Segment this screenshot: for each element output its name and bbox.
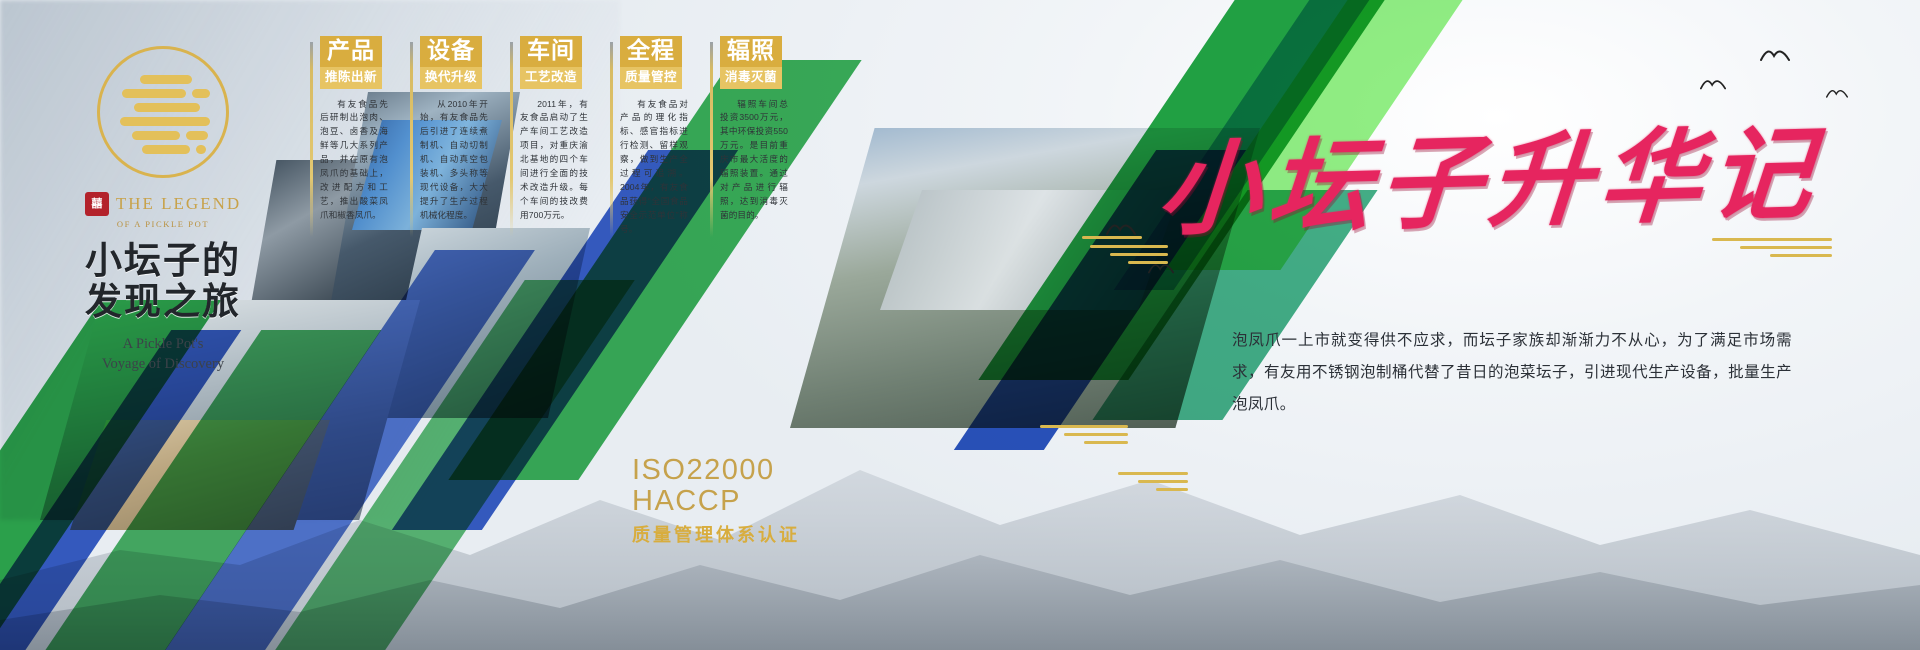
certification-line2: HACCP <box>632 486 800 517</box>
card-badge: 全程 质量管控 <box>620 36 682 89</box>
flying-bird-icon <box>1826 88 1848 100</box>
card-subheading: 推陈出新 <box>320 67 382 89</box>
flying-bird-icon <box>1106 222 1136 238</box>
card-subheading: 工艺改造 <box>520 67 582 89</box>
info-card-list: 产品 推陈出新 有友食品先后研制出泡肉、泡豆、卤香及海鲜等几大系列产品，并在原有… <box>310 36 788 237</box>
card-badge: 设备 换代升级 <box>420 36 482 89</box>
card-heading: 全程 <box>620 36 682 67</box>
gold-cloud-lines-icon <box>1118 472 1188 496</box>
card-badge: 产品 推陈出新 <box>320 36 382 89</box>
brand-title-en-line1: A Pickle Pot's <box>48 334 278 354</box>
card-rail <box>610 42 613 237</box>
flying-bird-icon <box>1148 262 1174 276</box>
card-heading: 车间 <box>520 36 582 67</box>
certification-block: ISO22000 HACCP 质量管理体系认证 <box>632 455 800 547</box>
brand-title-cn-line1: 小坛子的 <box>48 241 278 282</box>
card-rail <box>510 42 513 237</box>
info-card-quality: 全程 质量管控 有友食品对产品的理化指标、感官指标进行检测、留样观察，做到生产全… <box>610 36 688 237</box>
pickle-pot-emblem-icon <box>97 46 229 178</box>
card-subheading: 消毒灭菌 <box>720 67 782 89</box>
brand-title-en-line2: Voyage of Discovery <box>48 354 278 374</box>
card-subheading: 质量管控 <box>620 67 682 89</box>
info-card-workshop: 车间 工艺改造 2011年，有友食品启动了生产车间工艺改造项目，对重庆渝北基地的… <box>510 36 588 237</box>
card-rail <box>310 42 313 237</box>
brand-block: 囍 THE LEGEND OF A PICKLE POT 小坛子的 发现之旅 A… <box>48 46 278 374</box>
card-heading: 辐照 <box>720 36 782 67</box>
card-heading: 产品 <box>320 36 382 67</box>
card-rail <box>710 42 713 237</box>
gold-cloud-lines-icon <box>1040 425 1128 449</box>
card-body: 有友食品先后研制出泡肉、泡豆、卤香及海鲜等几大系列产品，并在原有泡凤爪的基础上，… <box>320 98 388 223</box>
brand-title-cn: 小坛子的 发现之旅 <box>48 241 278 324</box>
card-badge: 车间 工艺改造 <box>520 36 582 89</box>
flying-bird-icon <box>1760 48 1790 64</box>
card-body: 从2010年开始，有友食品先后引进了连续煮制机、自动切制机、自动真空包装机、多头… <box>420 98 488 223</box>
brand-title-en: A Pickle Pot's Voyage of Discovery <box>48 334 278 374</box>
card-badge: 辐照 消毒灭菌 <box>720 36 782 89</box>
info-card-product: 产品 推陈出新 有友食品先后研制出泡肉、泡豆、卤香及海鲜等几大系列产品，并在原有… <box>310 36 388 237</box>
card-rail <box>410 42 413 237</box>
card-body: 辐照车间总投资3500万元，其中环保投资550万元。是目前重庆市最大活度的辐照装… <box>720 98 788 223</box>
legend-sub-en-text: OF A PICKLE POT <box>48 219 278 229</box>
card-body: 有友食品对产品的理化指标、感官指标进行检测、留样观察，做到生产全过程可追溯。20… <box>620 98 688 237</box>
card-body: 2011年，有友食品启动了生产车间工艺改造项目，对重庆渝北基地的四个车间进行全面… <box>520 98 588 223</box>
card-subheading: 换代升级 <box>420 67 482 89</box>
info-card-irradiation: 辐照 消毒灭菌 辐照车间总投资3500万元，其中环保投资550万元。是目前重庆市… <box>710 36 788 237</box>
certification-line1: ISO22000 <box>632 455 800 486</box>
card-heading: 设备 <box>420 36 482 67</box>
poster-canvas: 囍 THE LEGEND OF A PICKLE POT 小坛子的 发现之旅 A… <box>0 0 1920 650</box>
legend-en-text: THE LEGEND <box>116 194 241 214</box>
info-card-equipment: 设备 换代升级 从2010年开始，有友食品先后引进了连续煮制机、自动切制机、自动… <box>410 36 488 237</box>
red-seal-icon: 囍 <box>85 192 109 216</box>
gold-cloud-lines-icon <box>1712 238 1832 262</box>
flying-bird-icon <box>1700 78 1726 92</box>
certification-line3: 质量管理体系认证 <box>632 521 800 547</box>
hero-paragraph: 泡凤爪一上市就变得供不应求，而坛子家族却渐渐力不从心，为了满足市场需求，有友用不… <box>1232 325 1792 420</box>
hero-title: 小坛子升华记 <box>1153 91 1826 255</box>
legend-wordmark: 囍 THE LEGEND <box>48 192 278 216</box>
brand-title-cn-line2: 发现之旅 <box>48 282 278 323</box>
